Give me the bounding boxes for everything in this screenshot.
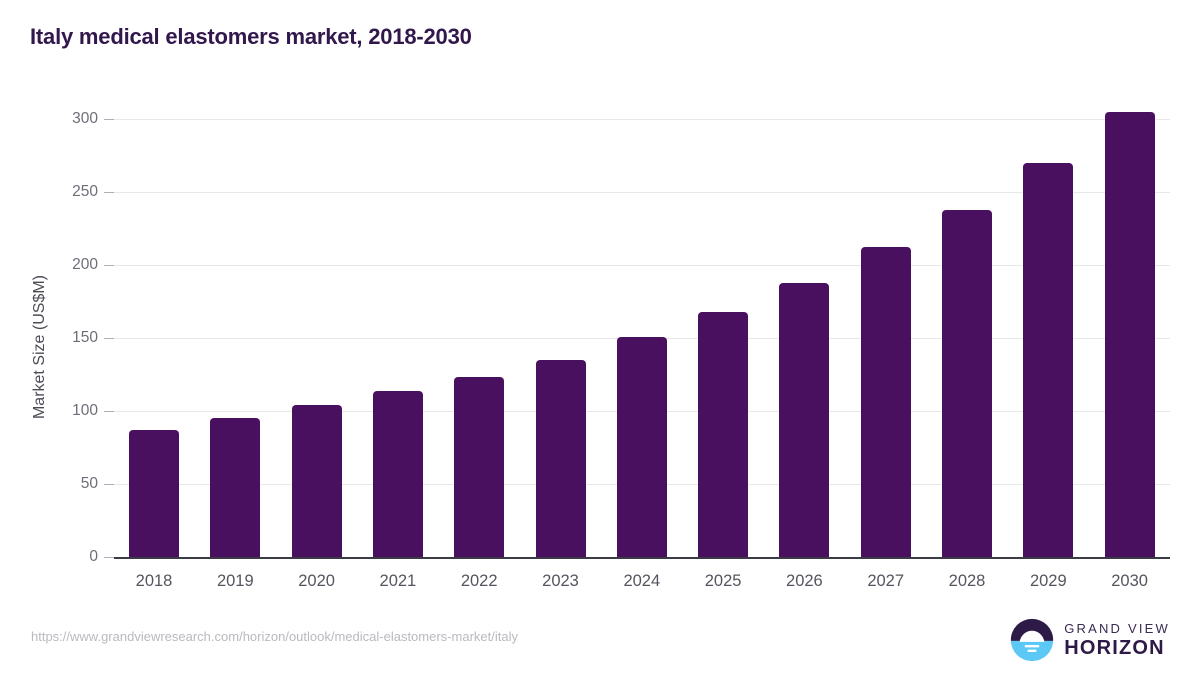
y-tick-mark [104, 557, 114, 558]
y-tick-label: 250 [18, 183, 98, 201]
x-tick-label: 2021 [353, 572, 443, 591]
y-tick-label: 200 [18, 256, 98, 274]
y-tick-mark [104, 192, 114, 193]
x-tick-label: 2026 [759, 572, 849, 591]
y-tick-label: 100 [18, 402, 98, 420]
x-tick-label: 2019 [190, 572, 280, 591]
y-tick-mark [104, 411, 114, 412]
bar[interactable] [942, 210, 992, 557]
x-axis-line [114, 557, 1170, 559]
y-tick-mark [104, 265, 114, 266]
y-tick-label: 300 [18, 110, 98, 128]
x-tick-label: 2018 [109, 572, 199, 591]
x-tick-label: 2030 [1085, 572, 1175, 591]
bar[interactable] [698, 312, 748, 557]
x-tick-label: 2025 [678, 572, 768, 591]
bar[interactable] [536, 360, 586, 557]
y-tick-mark [104, 484, 114, 485]
bar[interactable] [617, 337, 667, 557]
y-tick-label: 50 [18, 475, 98, 493]
bar[interactable] [1105, 112, 1155, 557]
gridline [114, 265, 1170, 266]
brand-logo: GRAND VIEW HORIZON [1009, 617, 1170, 663]
bar[interactable] [129, 430, 179, 557]
grand-view-horizon-logo-icon [1009, 617, 1055, 663]
logo-wordmark: GRAND VIEW HORIZON [1064, 622, 1170, 658]
plot-area [114, 119, 1170, 557]
bar[interactable] [373, 391, 423, 557]
chart-page: Italy medical elastomers market, 2018-20… [0, 0, 1200, 675]
logo-line-2: HORIZON [1064, 638, 1170, 658]
y-tick-label: 0 [18, 548, 98, 566]
bar[interactable] [454, 377, 504, 557]
y-tick-mark [104, 338, 114, 339]
x-tick-label: 2027 [841, 572, 931, 591]
bar[interactable] [1023, 163, 1073, 557]
bar[interactable] [861, 247, 911, 557]
x-tick-label: 2022 [434, 572, 524, 591]
x-tick-label: 2028 [922, 572, 1012, 591]
bar[interactable] [779, 283, 829, 557]
gridline [114, 119, 1170, 120]
y-axis-ticks: 050100150200250300 [0, 0, 98, 675]
x-tick-label: 2020 [272, 572, 362, 591]
source-url[interactable]: https://www.grandviewresearch.com/horizo… [31, 629, 518, 644]
bar[interactable] [210, 418, 260, 557]
y-tick-label: 150 [18, 329, 98, 347]
x-tick-label: 2029 [1003, 572, 1093, 591]
logo-line-1: GRAND VIEW [1064, 622, 1170, 635]
x-tick-label: 2024 [597, 572, 687, 591]
y-axis-title: Market Size (US$M) [31, 197, 49, 497]
y-tick-mark [104, 119, 114, 120]
x-tick-label: 2023 [516, 572, 606, 591]
gridline [114, 192, 1170, 193]
bar[interactable] [292, 405, 342, 557]
